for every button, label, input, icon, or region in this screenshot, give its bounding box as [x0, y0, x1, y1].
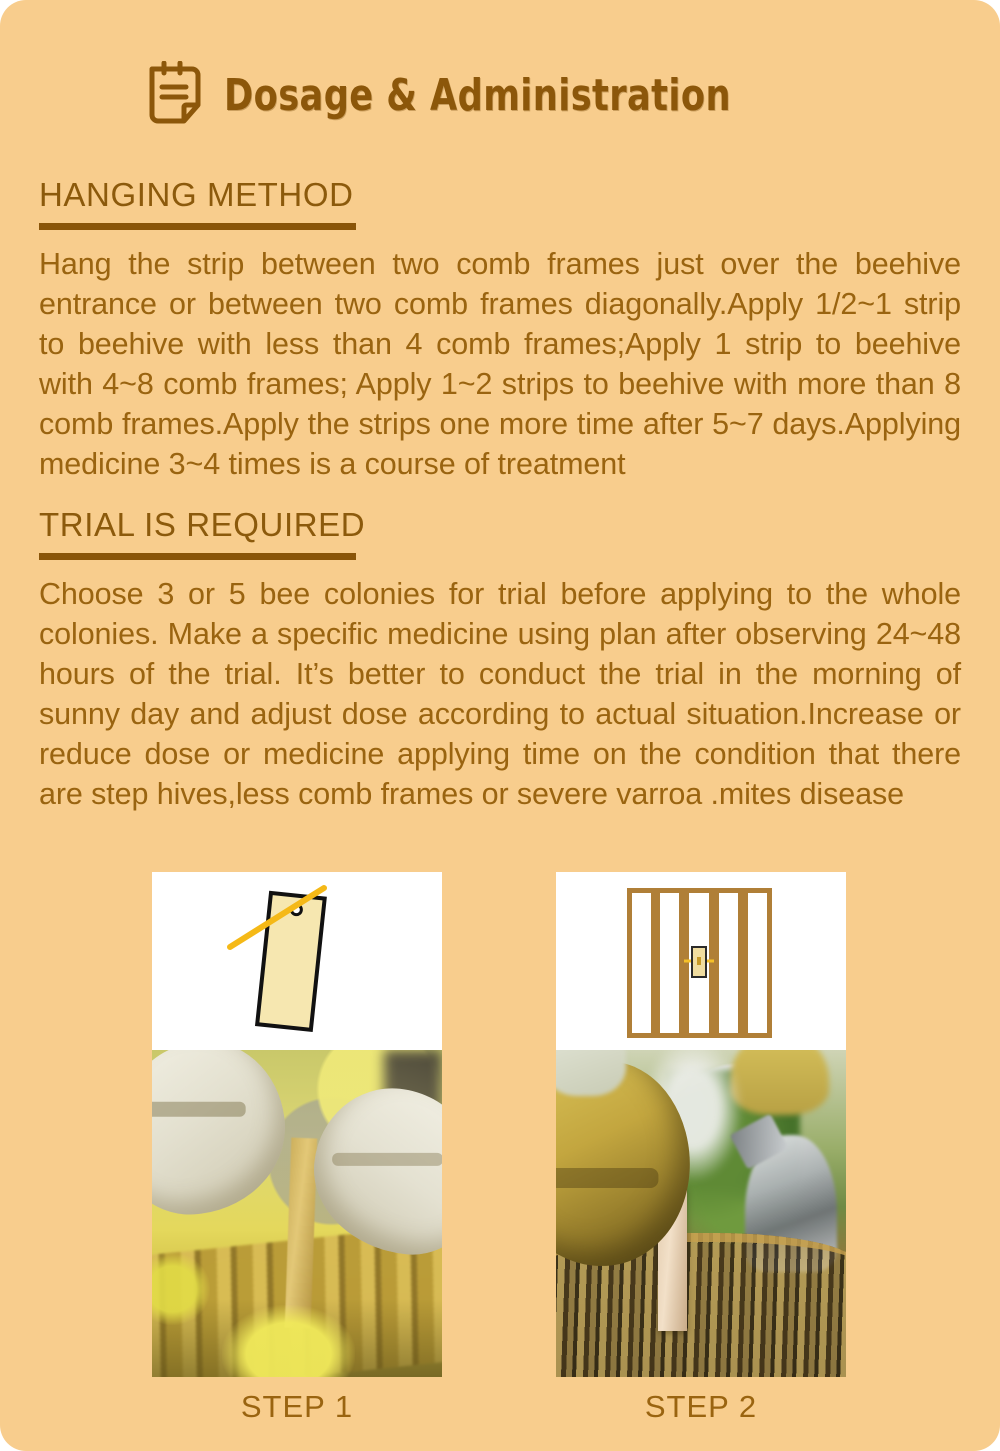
strip-diagram-svg	[152, 872, 442, 1050]
figure-step-1: STEP 1	[152, 872, 442, 1425]
notepad-icon	[142, 61, 202, 129]
figures-row: STEP 1	[0, 872, 1000, 1412]
gloved-hands-inserting-strip-photo	[152, 1050, 442, 1377]
bokeh-highlight	[222, 1305, 355, 1377]
beekeeper-placing-strip-in-hive-photo	[556, 1050, 846, 1377]
hive-frames-diagram-svg	[556, 872, 846, 1050]
beekeeper-suit	[730, 1050, 829, 1115]
right-glove	[306, 1081, 442, 1261]
page-title: Dosage & Administration	[224, 70, 731, 121]
section-trial-is-required: TRIAL IS REQUIRED Choose 3 or 5 bee colo…	[39, 508, 961, 814]
heading-underline	[39, 223, 356, 230]
section-hanging-method: HANGING METHOD Hang the strip between tw…	[39, 178, 961, 484]
section-body: Choose 3 or 5 bee colonies for trial bef…	[39, 560, 961, 814]
step-label: STEP 2	[556, 1389, 846, 1425]
figure-step-2: STEP 2	[556, 872, 846, 1425]
step-label: STEP 1	[152, 1389, 442, 1425]
left-glove	[152, 1050, 295, 1223]
instruction-card: Dosage & Administration HANGING METHOD H…	[0, 0, 1000, 1451]
strip-with-needle-diagram	[152, 872, 442, 1050]
heading-underline	[39, 553, 356, 560]
section-heading: HANGING METHOD	[39, 178, 961, 213]
section-heading: TRIAL IS REQUIRED	[39, 508, 961, 543]
hive-frames-with-hanging-strip-diagram	[556, 872, 846, 1050]
header: Dosage & Administration	[0, 47, 1000, 143]
bokeh-highlight	[152, 1253, 210, 1325]
section-body: Hang the strip between two comb frames j…	[39, 230, 961, 484]
